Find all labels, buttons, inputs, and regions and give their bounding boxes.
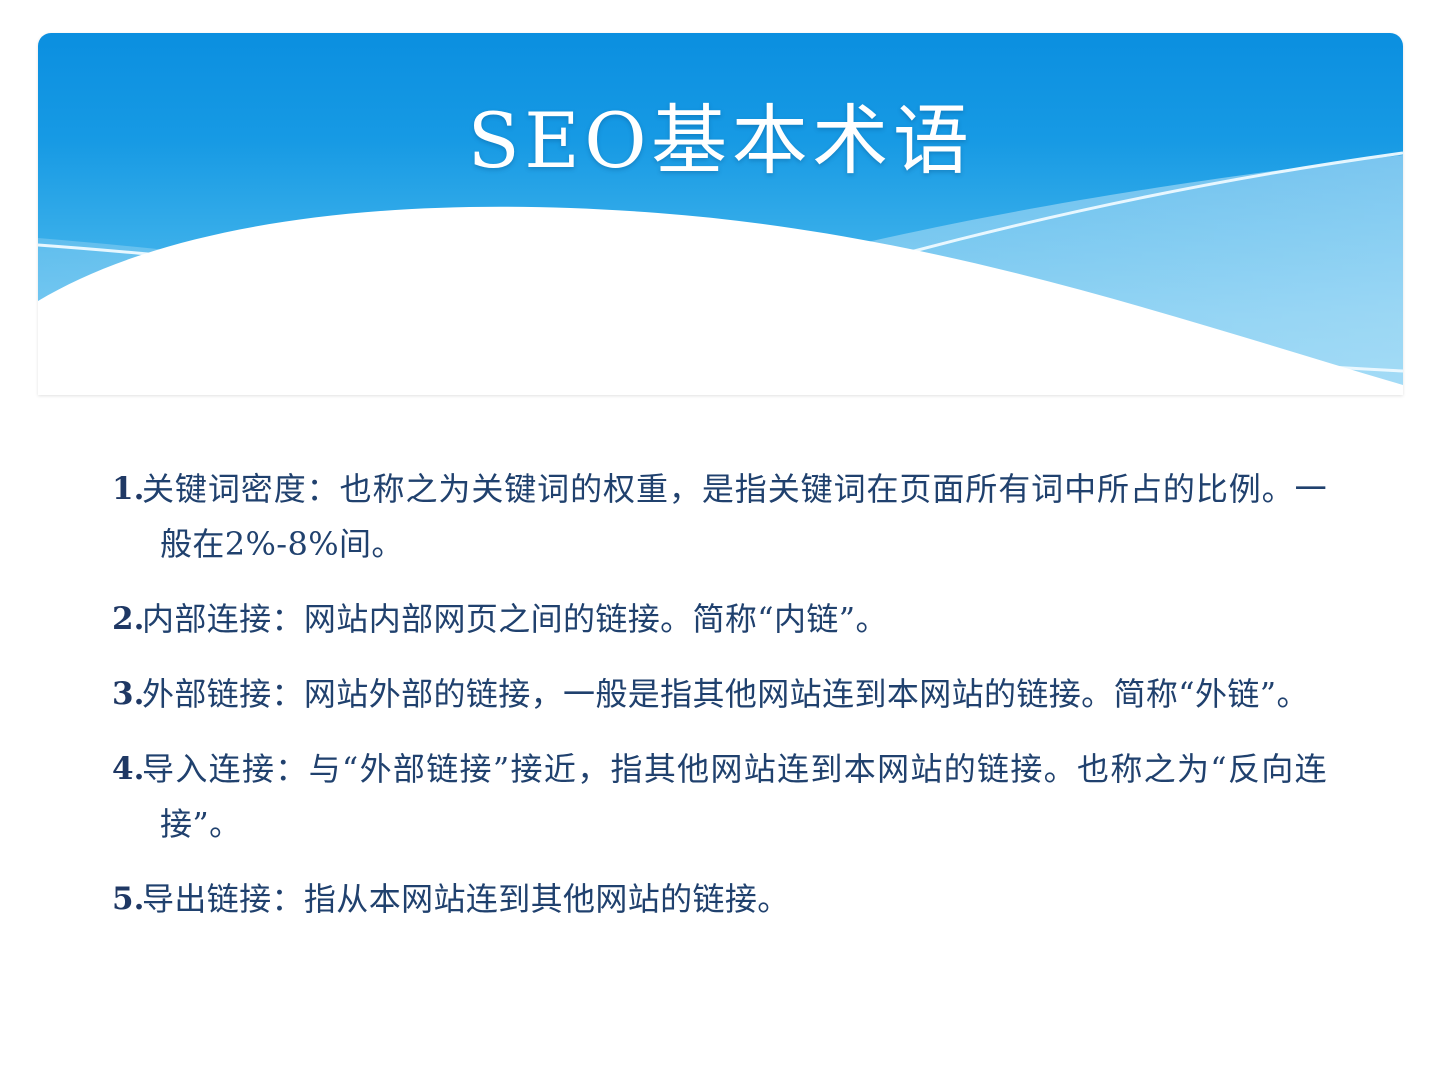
list-item: 4. 导入连接：与“外部链接”接近，指其他网站连到本网站的链接。也称之为“反向连… <box>112 742 1327 852</box>
banner-wave-decoration-icon <box>38 33 1403 395</box>
slide-body-content: 1. 关键词密度：也称之为关键词的权重，是指关键词在页面所有词中所占的比例。一般… <box>112 462 1327 927</box>
slide-header-banner: SEO基本术语 <box>38 33 1403 395</box>
list-item-number: 1. <box>112 462 142 517</box>
list-item: 5. 导出链接：指从本网站连到其他网站的链接。 <box>112 872 1327 927</box>
list-item-number: 3. <box>112 667 142 722</box>
list-item-number: 5. <box>112 872 142 927</box>
list-item: 1. 关键词密度：也称之为关键词的权重，是指关键词在页面所有词中所占的比例。一般… <box>112 462 1327 572</box>
list-item-text: 内部连接：网站内部网页之间的链接。简称“内链”。 <box>142 592 1327 647</box>
list-item-text: 外部链接：网站外部的链接，一般是指其他网站连到本网站的链接。简称“外链”。 <box>142 667 1327 722</box>
list-item-number: 4. <box>112 742 142 797</box>
list-item: 2. 内部连接：网站内部网页之间的链接。简称“内链”。 <box>112 592 1327 647</box>
list-item-text: 导出链接：指从本网站连到其他网站的链接。 <box>142 872 1327 927</box>
list-item: 3. 外部链接：网站外部的链接，一般是指其他网站连到本网站的链接。简称“外链”。 <box>112 667 1327 722</box>
list-item-text: 导入连接：与“外部链接”接近，指其他网站连到本网站的链接。也称之为“反向连接”。 <box>142 742 1327 852</box>
list-item-number: 2. <box>112 592 142 647</box>
presentation-slide: SEO基本术语 1. 关键词密度：也称之为关键词的权重，是指关键词在页面所有词中… <box>0 0 1440 1080</box>
list-item-text: 关键词密度：也称之为关键词的权重，是指关键词在页面所有词中所占的比例。一般在2%… <box>142 462 1327 572</box>
